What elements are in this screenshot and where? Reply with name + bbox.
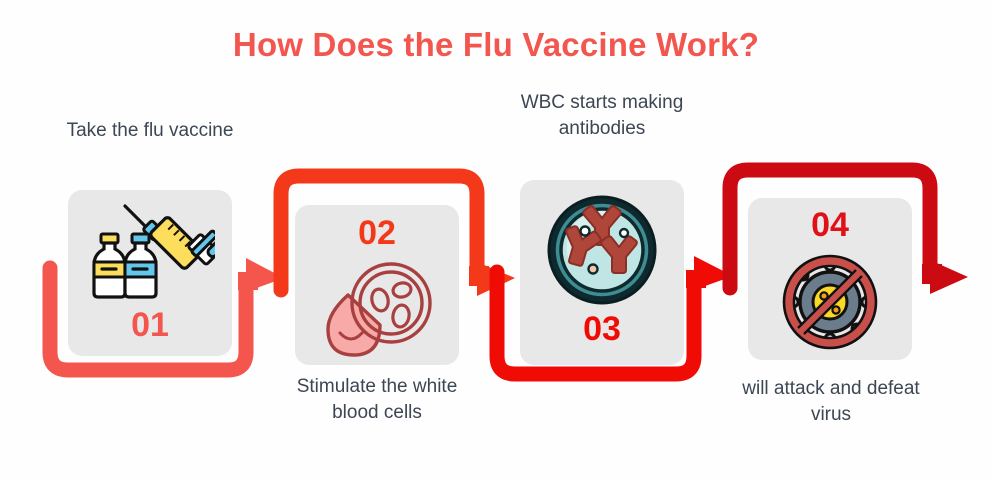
white-blood-cell-drop-icon [310,258,444,358]
step-3-number: 03 [520,312,684,346]
step-4-label: will attack and defeat virus [738,376,924,428]
step-4-number: 04 [748,208,912,242]
infographic-canvas: How Does the Flu Vaccine Work? [0,0,992,480]
step-3-label: WBC starts making antibodies [512,90,692,142]
virus-blocked-icon [766,250,894,354]
step-2-number: 02 [295,216,459,250]
vaccine-syringe-vials-icon [80,198,220,306]
step-1-number: 01 [68,308,232,342]
antibody-petri-dish-icon [535,192,669,308]
step-1-label: Take the flu vaccine [48,118,252,144]
step-2-label: Stimulate the white blood cells [277,374,477,426]
